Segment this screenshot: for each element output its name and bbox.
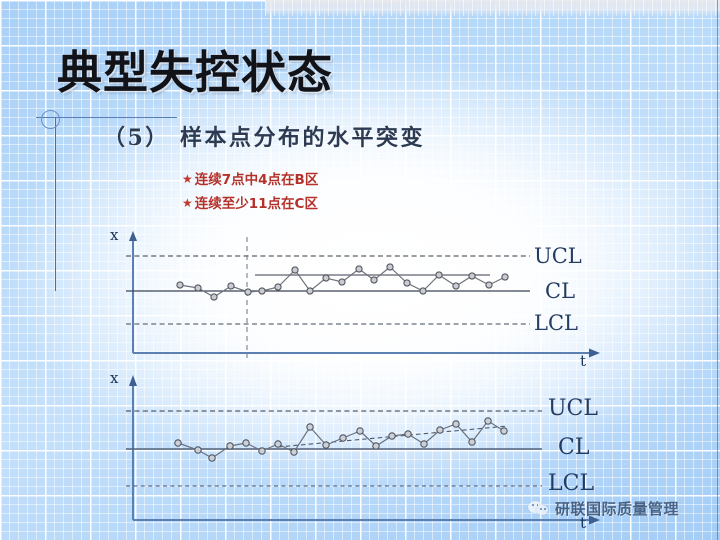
list-item: ★连续7点中4点在B区	[182, 168, 318, 192]
chart2-ucl-label: UCL	[548, 396, 598, 421]
chart2-cl-label: CL	[558, 435, 589, 460]
watermark: 研联国际质量管理	[528, 498, 679, 519]
chart1-axes	[129, 231, 600, 358]
list-item-label: 连续至少11点在C区	[195, 196, 318, 212]
slide-canvas: 典型失控状态 （5） 样本点分布的水平突变 ★连续7点中4点在B区 ★连续至少1…	[0, 0, 720, 540]
star-icon: ★	[182, 191, 193, 215]
decorative-vertical-rule	[55, 118, 56, 291]
chart2-control-limits	[126, 411, 542, 486]
background-top-band-grid	[265, 0, 720, 16]
chart2-y-axis-label: x	[110, 369, 118, 387]
decorative-circle-icon	[41, 110, 60, 129]
chart1-y-axis-label: x	[110, 226, 118, 244]
list-item-label: 连续7点中4点在B区	[195, 172, 319, 188]
control-chart-level-shift	[100, 225, 720, 375]
chart1-svg	[100, 225, 720, 375]
page-subtitle: （5） 样本点分布的水平突变	[103, 124, 425, 152]
bullet-list: ★连续7点中4点在B区 ★连续至少11点在C区	[182, 168, 318, 216]
chart1-ucl-label: UCL	[534, 244, 582, 268]
list-item: ★连续至少11点在C区	[182, 192, 318, 216]
wechat-icon	[528, 500, 550, 517]
chart1-control-limits	[126, 256, 530, 324]
chart1-lcl-label: LCL	[534, 311, 578, 335]
series-markers	[177, 264, 508, 300]
watermark-label: 研联国际质量管理	[555, 498, 679, 519]
chart1-cl-label: CL	[545, 279, 575, 303]
page-title: 典型失控状态	[57, 48, 333, 98]
star-icon: ★	[182, 167, 193, 191]
chart2-lcl-label: LCL	[548, 471, 594, 496]
series-markers	[175, 418, 507, 461]
